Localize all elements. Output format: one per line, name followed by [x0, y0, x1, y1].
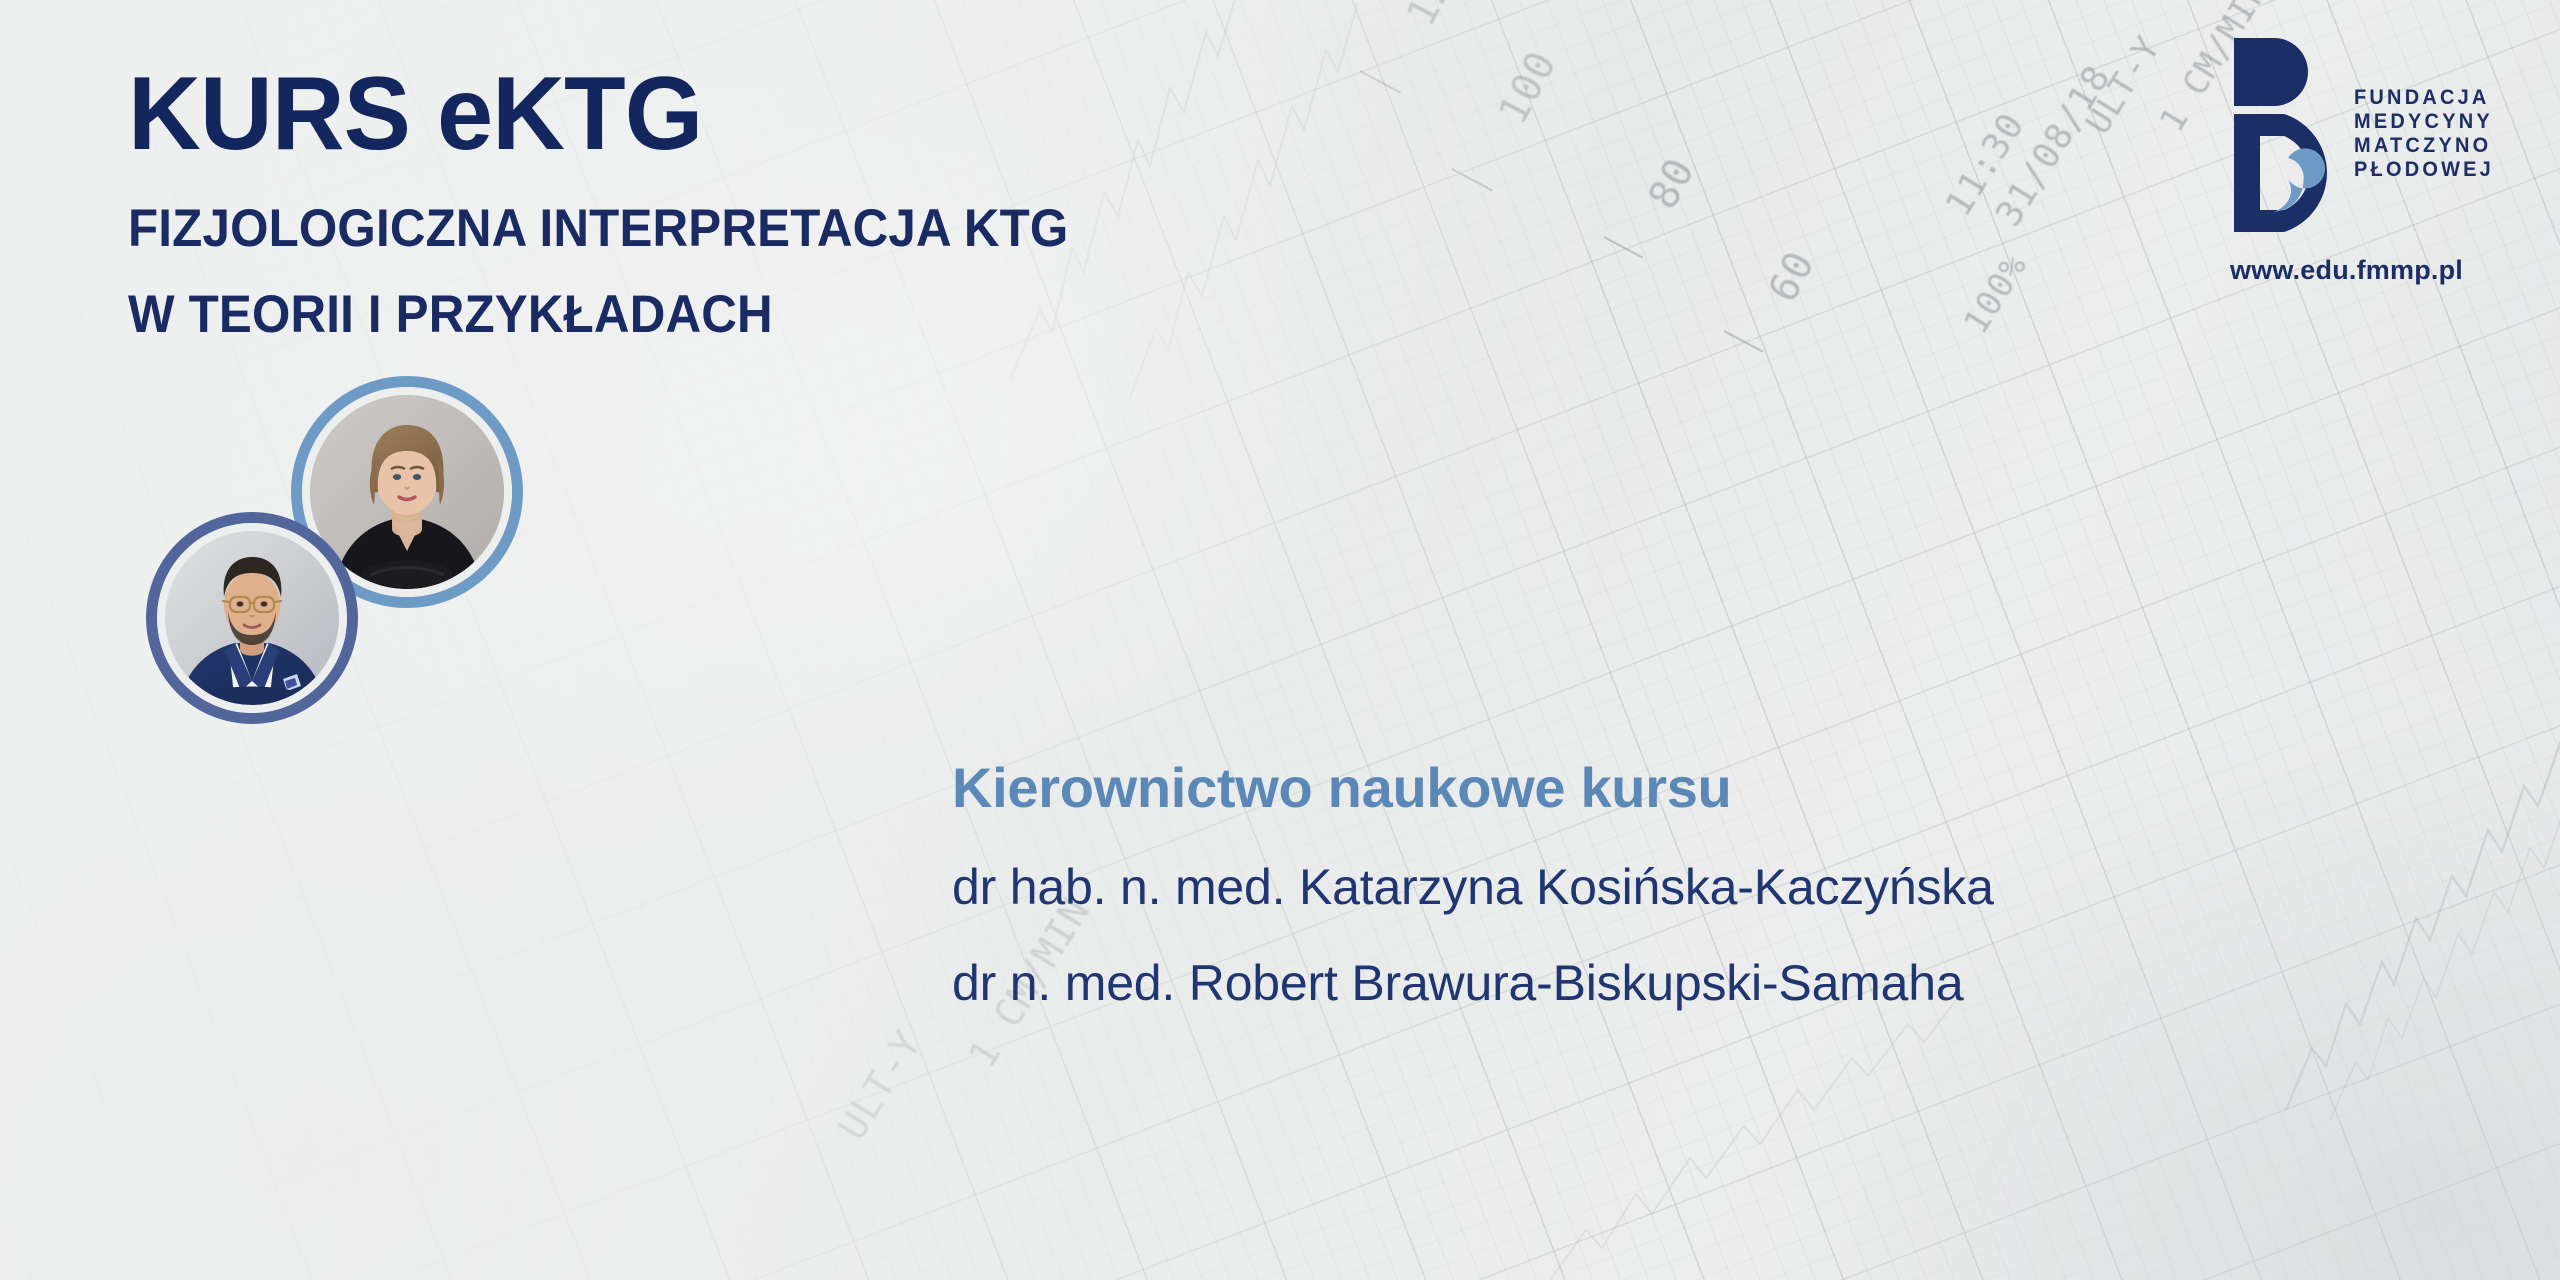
- credits-person-1: dr hab. n. med. Katarzyna Kosińska-Kaczy…: [952, 862, 1994, 912]
- credits-block: Kierownictwo naukowe kursu dr hab. n. me…: [952, 760, 1994, 1008]
- subtitle-line-2: W TEORII I PRZYKŁADACH: [128, 288, 1068, 341]
- fmmp-b-mark-icon: [2228, 30, 2338, 235]
- logo-org-text: FUNDACJA MEDYCYNY MATCZYNO PŁODOWEJ: [2354, 86, 2501, 182]
- logo-row: FUNDACJA MEDYCYNY MATCZYNO PŁODOWEJ: [2228, 30, 2501, 235]
- portrait-photo-robert: [165, 531, 339, 705]
- credits-heading: Kierownictwo naukowe kursu: [952, 760, 1994, 816]
- logo-line-1: FUNDACJA: [2354, 86, 2494, 110]
- page-title: KURS eKTG: [128, 62, 1109, 166]
- logo-line-2: MEDYCYNY: [2354, 110, 2494, 134]
- logo-url[interactable]: www.edu.fmmp.pl: [2230, 255, 2463, 286]
- subtitle-line-1: FIZJOLOGICZNA INTERPRETACJA KTG: [128, 202, 1068, 255]
- logo-line-3: MATCZYNO: [2354, 134, 2494, 158]
- avatar-robert: [165, 531, 339, 705]
- fmmp-logo[interactable]: FUNDACJA MEDYCYNY MATCZYNO PŁODOWEJ www.…: [2228, 30, 2528, 310]
- poster-canvas: 120 100 80 60 100% 11:30 31/08/18 ULT-Y …: [0, 0, 2560, 1280]
- title-block: KURS eKTG FIZJOLOGICZNA INTERPRETACJA KT…: [128, 62, 1139, 341]
- logo-line-4: PŁODOWEJ: [2354, 158, 2494, 182]
- credits-person-2: dr n. med. Robert Brawura-Biskupski-Sama…: [952, 958, 1994, 1008]
